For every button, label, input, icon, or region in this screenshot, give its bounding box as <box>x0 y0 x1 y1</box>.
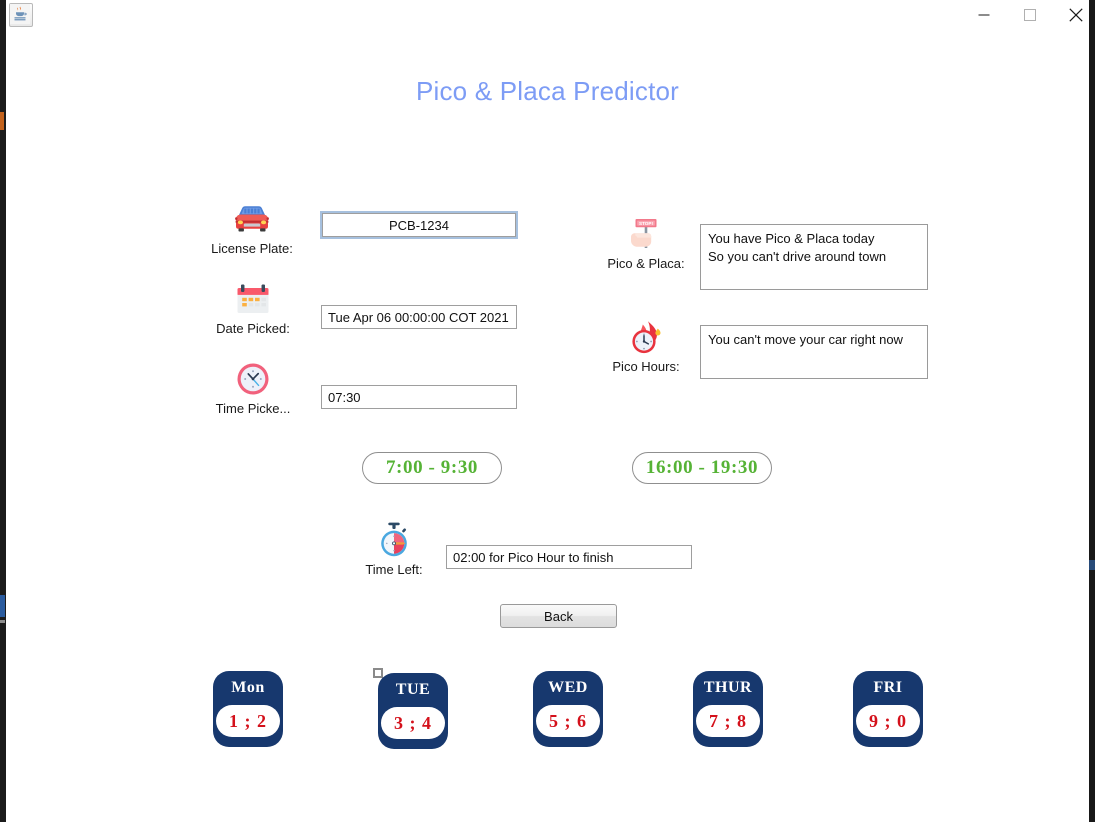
time-left-input[interactable]: 02:00 for Pico Hour to finish <box>446 545 692 569</box>
background-accent-blue <box>0 595 5 617</box>
license-plate-field-group: License Plate: <box>204 200 300 256</box>
time-left-group: Time Left: <box>346 521 442 577</box>
background-accent-grey <box>0 620 5 623</box>
day-name-label: WED <box>548 679 588 697</box>
time-picked-input[interactable]: 07:30 <box>321 385 517 409</box>
date-picked-input[interactable]: Tue Apr 06 00:00:00 COT 2021 <box>321 305 517 329</box>
date-picked-field-group: Date Picked: <box>205 280 301 336</box>
date-picked-label: Date Picked: <box>205 321 301 336</box>
maximize-button[interactable] <box>1007 0 1053 30</box>
back-button[interactable]: Back <box>500 604 617 628</box>
time-picked-field-group: Time Picke... <box>205 360 301 416</box>
day-badge-tue[interactable]: TUE 3 ; 4 <box>373 668 383 678</box>
java-coffee-cup-icon[interactable] <box>9 3 33 27</box>
day-badge-body: FRI 9 ; 0 <box>853 671 923 747</box>
day-digits-label: 3 ; 4 <box>381 707 445 739</box>
car-icon <box>232 200 272 238</box>
background-accent-orange <box>0 112 4 130</box>
pico-hours-result-group: Pico Hours: <box>598 318 694 374</box>
fire-clock-icon <box>626 318 666 356</box>
day-badge-body: Mon 1 ; 2 <box>213 671 283 747</box>
page-title: Pico & Placa Predictor <box>6 76 1089 107</box>
day-name-label: FRI <box>873 679 902 697</box>
pico-placa-textarea[interactable]: You have Pico & Placa today So you can't… <box>700 224 928 290</box>
pico-placa-result-group: STOP! Pico & Placa: <box>598 215 694 271</box>
day-badge-body: THUR 7 ; 8 <box>693 671 763 747</box>
time-left-label: Time Left: <box>346 562 442 577</box>
background-accent-blue-right <box>1089 560 1095 570</box>
pico-hours-textarea[interactable]: You can't move your car right now <box>700 325 928 379</box>
day-name-label: Mon <box>231 679 265 697</box>
svg-text:STOP!: STOP! <box>639 221 653 226</box>
license-plate-input[interactable]: PCB-1234 <box>322 213 516 237</box>
minimize-button[interactable] <box>961 0 1007 30</box>
day-digits-label: 7 ; 8 <box>696 705 760 737</box>
stop-sign-hand-icon: STOP! <box>626 215 666 253</box>
day-name-label: THUR <box>704 679 752 697</box>
close-icon <box>1069 8 1083 22</box>
day-digits-label: 5 ; 6 <box>536 705 600 737</box>
evening-range-badge: 16:00 - 19:30 <box>632 452 772 484</box>
close-button[interactable] <box>1053 0 1095 30</box>
maximize-icon <box>1024 9 1036 21</box>
day-digits-label: 9 ; 0 <box>856 705 920 737</box>
time-picked-label: Time Picke... <box>205 401 301 416</box>
clock-icon <box>233 360 273 398</box>
morning-range-badge: 7:00 - 9:30 <box>362 452 502 484</box>
day-badge-body: WED 5 ; 6 <box>533 671 603 747</box>
license-plate-label: License Plate: <box>204 241 300 256</box>
minimize-icon <box>978 9 990 21</box>
pico-hours-label: Pico Hours: <box>598 359 694 374</box>
desktop-background-right <box>1089 0 1095 822</box>
pico-placa-label: Pico & Placa: <box>598 256 694 271</box>
day-digits-label: 1 ; 2 <box>216 705 280 737</box>
stopwatch-icon <box>374 521 414 559</box>
application-window: Pico & Placa Predictor License Plate: PC… <box>6 0 1089 822</box>
calendar-icon <box>233 280 273 318</box>
day-name-label: TUE <box>396 681 430 699</box>
title-bar[interactable] <box>6 0 1089 38</box>
day-badge-body: TUE 3 ; 4 <box>378 673 448 749</box>
